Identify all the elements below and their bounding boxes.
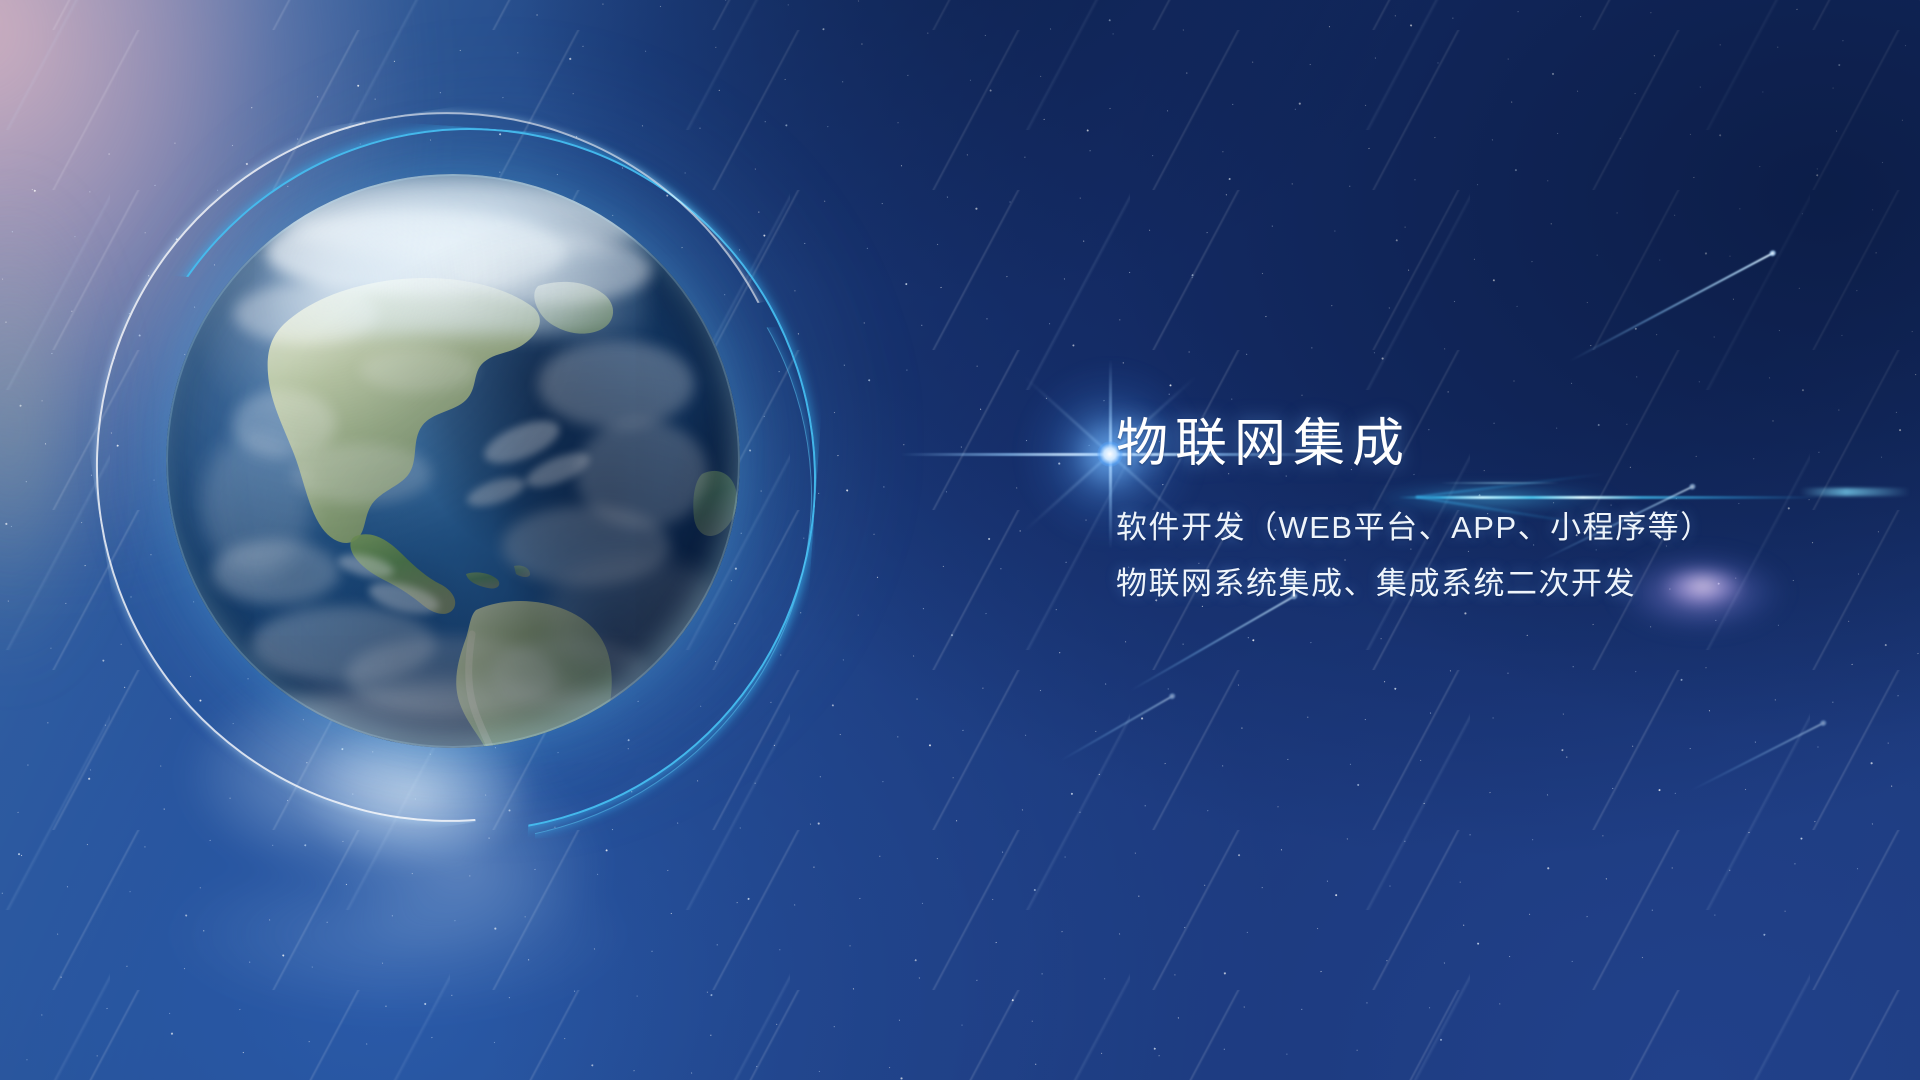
banner-subtitle-line-2: 物联网系统集成、集成系统二次开发: [1116, 568, 1836, 599]
banner-subtitle-line-1: 软件开发（WEB平台、APP、小程序等）: [1116, 512, 1836, 543]
banner-text-block: 物联网集成 软件开发（WEB平台、APP、小程序等） 物联网系统集成、集成系统二…: [1116, 418, 1836, 599]
hero-banner: 物联网集成 软件开发（WEB平台、APP、小程序等） 物联网系统集成、集成系统二…: [0, 0, 1920, 1080]
banner-headline: 物联网集成: [1116, 418, 1836, 470]
